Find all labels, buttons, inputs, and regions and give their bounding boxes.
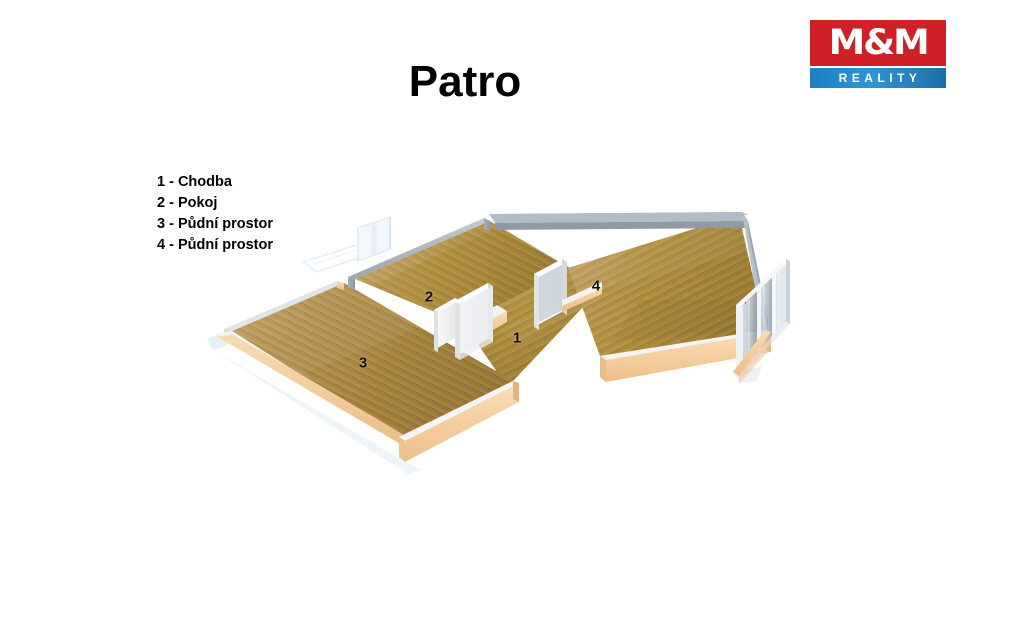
- glazing-pane-3: [776, 262, 786, 334]
- room3-wall-front-bottom-face: [399, 437, 405, 462]
- window-mullion: [372, 222, 376, 256]
- room-number-label-1: 1: [513, 331, 521, 346]
- window-panel-floating: [303, 217, 390, 272]
- room-number-label-4: 4: [592, 279, 600, 294]
- glazing-mullion-2: [772, 272, 776, 336]
- room-number-label-3: 3: [359, 356, 367, 371]
- room2-wall-back-face: [348, 277, 355, 290]
- glazing-post-right: [786, 259, 790, 324]
- floorplan-page: Patro M&M REALITY 1 - Chodba 2 - Pokoj 3…: [0, 0, 1024, 620]
- floorplan-3d-render: [0, 0, 1024, 620]
- room-number-label-2: 2: [425, 290, 433, 305]
- window-pane-left: [358, 223, 372, 261]
